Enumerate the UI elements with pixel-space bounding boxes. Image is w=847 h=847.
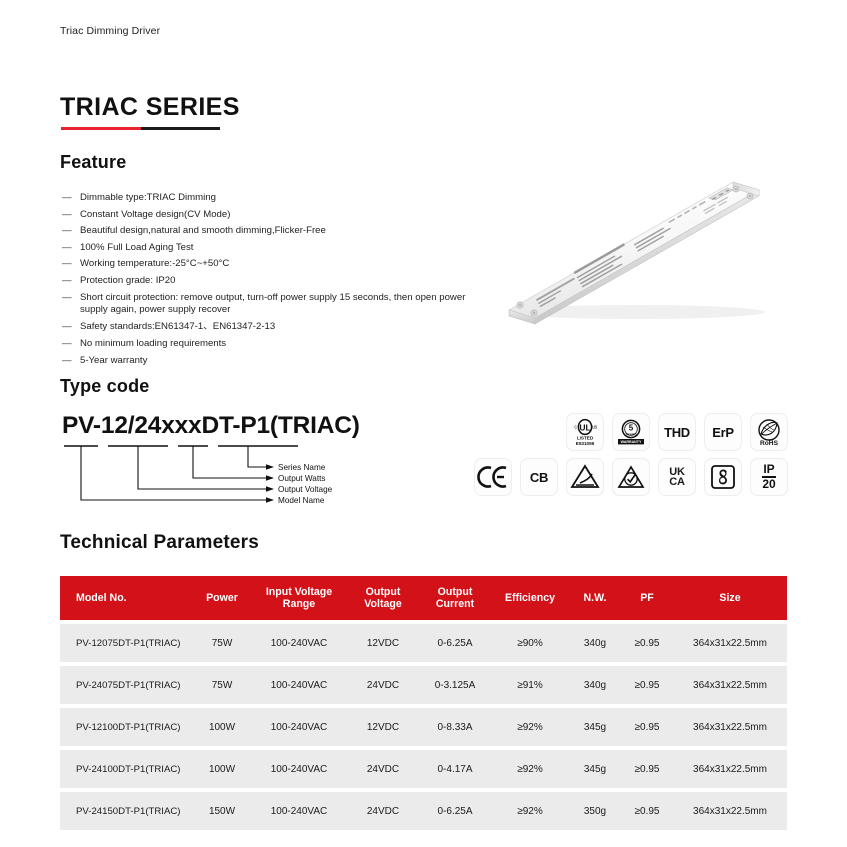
cell-model: PV-12075DT-P1(TRIAC) [60,624,193,662]
cell-model: PV-24100DT-P1(TRIAC) [60,750,193,788]
feature-item-label: 100% Full Load Aging Test [80,242,482,254]
cell-pf: ≥0.95 [621,708,673,746]
feature-item: — 5-Year warranty [62,355,482,367]
cell-nw: 345g [569,750,621,788]
cell-efficiency: ≥90% [491,624,569,662]
type-code-block: PV-12/24xxxDT-P1(TRIAC) Series Name Outp… [60,412,440,512]
cell-output-current: 0-8.33A [419,708,491,746]
cell-power: 100W [193,708,251,746]
cell-input-voltage: 100-240VAC [251,750,347,788]
cell-size: 364x31x22.5mm [673,792,787,830]
ip-rating-badge: IP 20 [751,459,787,495]
table-header-row: Model No. Power Input Voltage Range Outp… [60,576,787,620]
ip-label: IP [762,464,775,475]
cell-power: 100W [193,750,251,788]
cell-power: 150W [193,792,251,830]
ip-value: 20 [762,479,775,490]
dash-bullet-icon: — [62,192,80,204]
cell-efficiency: ≥92% [491,792,569,830]
dash-bullet-icon: — [62,242,80,254]
product-photo [487,172,777,332]
cell-size: 364x31x22.5mm [673,624,787,662]
thd-badge: THD [659,414,695,450]
certification-badges: UL c us LISTED E531059 5 YEARS WARRANTY … [457,414,787,504]
feature-item: — Safety standards:EN61347-1、EN61347-2-1… [62,321,482,333]
erp-badge: ErP [705,414,741,450]
cell-model: PV-24150DT-P1(TRIAC) [60,792,193,830]
svg-text:RoHS: RoHS [760,440,779,447]
erp-label: ErP [712,425,734,440]
certification-row-2: CB UK CA [457,459,787,495]
cb-badge: CB [521,459,557,495]
ip-rating-wrap: IP 20 [762,464,775,489]
technical-parameters-heading: Technical Parameters [60,532,259,554]
feature-item: — Constant Voltage design(CV Mode) [62,209,482,221]
rcm-tick-icon [614,460,648,494]
svg-text:E531059: E531059 [576,441,595,446]
feature-item-label: Short circuit protection: remove output,… [80,292,482,317]
column-header-line-2: Current [419,598,491,611]
cell-model: PV-12100DT-P1(TRIAC) [60,708,193,746]
type-code-string: PV-12/24xxxDT-P1(TRIAC) [62,412,360,440]
cell-output-voltage: 12VDC [347,708,419,746]
dash-bullet-icon: — [62,225,80,237]
title-rule-black-segment [141,127,221,130]
cell-pf: ≥0.95 [621,750,673,788]
column-header-size: Size [673,576,787,620]
dash-bullet-icon: — [62,355,80,367]
enec-badge [567,459,603,495]
type-code-callout-label: Output Voltage [278,485,333,494]
cell-efficiency: ≥92% [491,708,569,746]
dash-bullet-icon: — [62,209,80,221]
feature-heading: Feature [60,152,126,173]
svg-text:LISTED: LISTED [577,435,594,440]
dash-bullet-icon: — [62,275,80,287]
svg-text:c: c [574,425,577,431]
cell-input-voltage: 100-240VAC [251,708,347,746]
column-header-input-voltage-range: Input Voltage Range [251,576,347,620]
cell-output-voltage: 24VDC [347,792,419,830]
led-driver-illustration [487,172,777,332]
feature-item: — No minimum loading requirements [62,338,482,350]
column-header-nw: N.W. [569,576,621,620]
rohs-badge: RoHS [751,414,787,450]
cb-label: CB [530,470,548,485]
column-header-output-voltage: Output Voltage [347,576,419,620]
column-header-output-current: Output Current [419,576,491,620]
thd-label: THD [664,425,690,440]
cell-efficiency: ≥91% [491,666,569,704]
cell-nw: 340g [569,624,621,662]
feature-item: — Protection grade: IP20 [62,275,482,287]
feature-item: — Short circuit protection: remove outpu… [62,292,482,317]
column-header-pf: PF [621,576,673,620]
svg-text:YEARS: YEARS [625,432,637,436]
svg-text:WARRANTY: WARRANTY [621,440,642,444]
feature-item-label: Safety standards:EN61347-1、EN61347-2-13 [80,321,482,333]
ukca-label-wrap: UK CA [669,467,685,488]
dash-bullet-icon: — [62,338,80,350]
rcm-badge [613,459,649,495]
dash-bullet-icon: — [62,258,80,270]
feature-item: — Working temperature:-25°C~+50°C [62,258,482,270]
type-code-callout-label: Output Watts [278,474,325,483]
s-mark-badge [705,459,741,495]
table-row: PV-24150DT-P1(TRIAC) 150W 100-240VAC 24V… [60,792,787,830]
cell-model: PV-24075DT-P1(TRIAC) [60,666,193,704]
cell-power: 75W [193,624,251,662]
cell-input-voltage: 100-240VAC [251,792,347,830]
document-header-label: Triac Dimming Driver [60,25,160,37]
cell-efficiency: ≥92% [491,750,569,788]
type-code-heading: Type code [60,376,150,397]
svg-text:5: 5 [629,424,634,433]
type-code-callout-label: Model Name [278,496,325,505]
column-header-power: Power [193,576,251,620]
title-rule-red-segment [61,127,141,130]
cell-output-voltage: 24VDC [347,666,419,704]
cell-size: 364x31x22.5mm [673,666,787,704]
feature-item-label: Protection grade: IP20 [80,275,482,287]
column-header-line-1: Input Voltage [251,586,347,599]
feature-item-label: No minimum loading requirements [80,338,482,350]
ul-listed-icon: UL c us LISTED E531059 [568,415,602,449]
column-header-line-1: Output [347,586,419,599]
dash-bullet-icon: — [62,321,80,333]
ce-badge [475,459,511,495]
ukca-line-2: CA [669,477,685,488]
enec-triangle-icon [568,460,602,494]
technical-parameters-table: Model No. Power Input Voltage Range Outp… [60,572,787,834]
certification-row-1: UL c us LISTED E531059 5 YEARS WARRANTY … [457,414,787,450]
feature-list: — Dimmable type:TRIAC Dimming — Constant… [62,192,482,371]
cell-output-current: 0-3.125A [419,666,491,704]
cell-nw: 340g [569,666,621,704]
title-underline-rule [61,127,220,130]
rohs-leaf-icon: RoHS [752,415,786,449]
feature-item-label: Working temperature:-25°C~+50°C [80,258,482,270]
s-mark-icon [706,460,740,494]
warranty-5-years-icon: 5 YEARS WARRANTY [614,415,648,449]
table-row: PV-24100DT-P1(TRIAC) 100W 100-240VAC 24V… [60,750,787,788]
cell-output-current: 0-4.17A [419,750,491,788]
cell-output-voltage: 24VDC [347,750,419,788]
cell-pf: ≥0.95 [621,666,673,704]
feature-item-label: 5-Year warranty [80,355,482,367]
cell-power: 75W [193,666,251,704]
five-year-warranty-badge: 5 YEARS WARRANTY [613,414,649,450]
column-header-line-1: Output [419,586,491,599]
type-code-leader-diagram: Series Name Output Watts Output Voltage … [60,442,390,508]
feature-item: — 100% Full Load Aging Test [62,242,482,254]
cell-output-current: 0-6.25A [419,792,491,830]
cell-nw: 345g [569,708,621,746]
svg-text:us: us [592,425,598,431]
feature-item-label: Constant Voltage design(CV Mode) [80,209,482,221]
cell-pf: ≥0.95 [621,624,673,662]
table-row: PV-12075DT-P1(TRIAC) 75W 100-240VAC 12VD… [60,624,787,662]
feature-item: — Dimmable type:TRIAC Dimming [62,192,482,204]
cell-pf: ≥0.95 [621,792,673,830]
dash-bullet-icon: — [62,292,80,304]
cell-output-voltage: 12VDC [347,624,419,662]
column-header-line-2: Voltage [347,598,419,611]
column-header-line-2: Range [251,598,347,611]
svg-text:UL: UL [579,423,590,433]
ul-listed-badge: UL c us LISTED E531059 [567,414,603,450]
cell-nw: 350g [569,792,621,830]
feature-item: — Beautiful design,natural and smooth di… [62,225,482,237]
page-title: TRIAC SERIES [60,93,240,122]
column-header-model: Model No. [60,576,193,620]
type-code-callout-label: Series Name [278,463,326,472]
cell-input-voltage: 100-240VAC [251,624,347,662]
feature-item-label: Beautiful design,natural and smooth dimm… [80,225,482,237]
column-header-efficiency: Efficiency [491,576,569,620]
cell-size: 364x31x22.5mm [673,708,787,746]
cell-input-voltage: 100-240VAC [251,666,347,704]
cell-size: 364x31x22.5mm [673,750,787,788]
table-row: PV-12100DT-P1(TRIAC) 100W 100-240VAC 12V… [60,708,787,746]
table-row: PV-24075DT-P1(TRIAC) 75W 100-240VAC 24VD… [60,666,787,704]
ce-mark-icon [476,460,510,494]
ukca-badge: UK CA [659,459,695,495]
cell-output-current: 0-6.25A [419,624,491,662]
feature-item-label: Dimmable type:TRIAC Dimming [80,192,482,204]
